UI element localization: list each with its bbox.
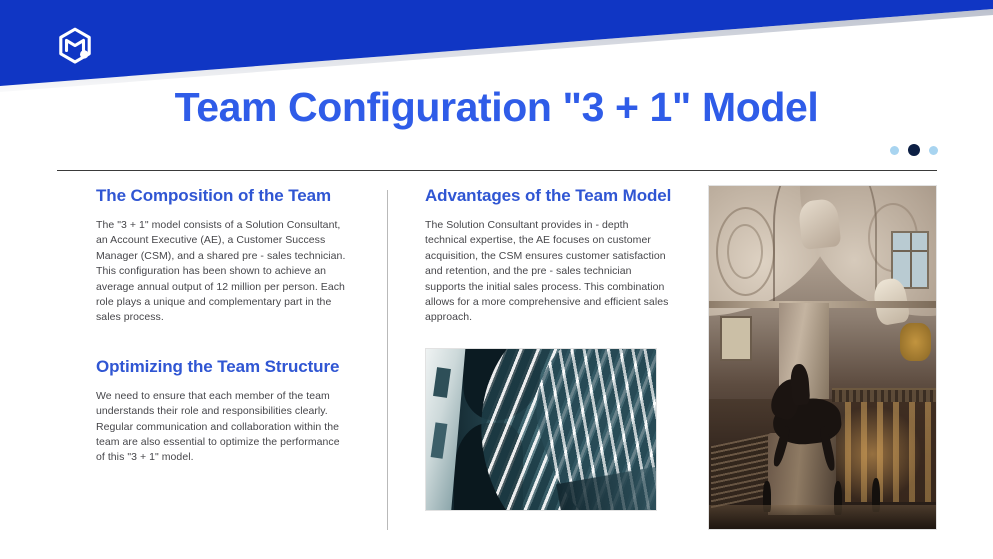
hall-layer-window-lower [720,316,752,361]
column-left: The Composition of the Team The "3 + 1" … [96,185,349,466]
modern-architecture-photo [425,348,657,511]
pagination-dot-2-active[interactable] [908,144,920,156]
section-body-optimizing: We need to ensure that each member of th… [96,389,349,466]
content-area: The Composition of the Team The "3 + 1" … [0,185,993,559]
section-heading-advantages: Advantages of the Team Model [425,185,673,206]
hall-layer-ceiling-relief [797,198,840,250]
hall-layer-balustrade [832,388,936,402]
slide-root: Team Configuration "3 + 1" Model The Com… [0,0,993,559]
column-right [708,185,937,530]
hall-layer-coffer-2 [727,224,763,279]
pagination-dots[interactable] [890,144,938,156]
page-title: Team Configuration "3 + 1" Model [0,76,993,138]
column-middle: Advantages of the Team Model The Solutio… [425,185,673,511]
hall-layer-gilded-ornament [900,323,932,361]
hall-layer-floor [709,505,936,529]
section-heading-composition: The Composition of the Team [96,185,349,206]
section-heading-optimizing: Optimizing the Team Structure [96,356,349,377]
pagination-dot-3[interactable] [929,146,938,155]
spacer [96,326,349,356]
pagination-dot-1[interactable] [890,146,899,155]
cube-m-logo-icon[interactable] [54,26,96,68]
header-divider [57,170,937,171]
baroque-hall-photo [708,185,937,530]
hall-layer-staircase [711,434,770,508]
section-body-composition: The "3 + 1" model consists of a Solution… [96,218,349,326]
column-divider [387,190,388,530]
section-body-advantages: The Solution Consultant provides in - de… [425,218,673,326]
